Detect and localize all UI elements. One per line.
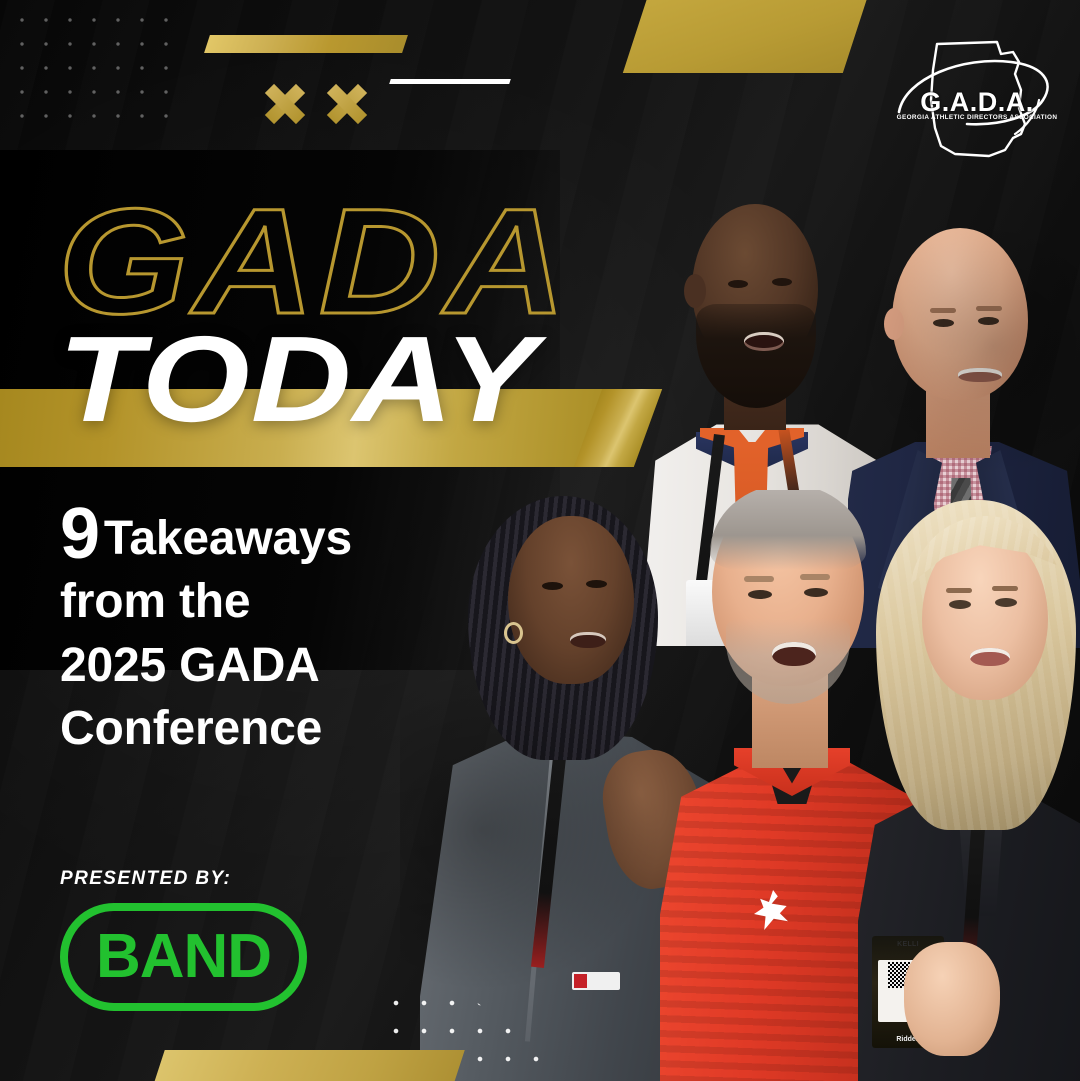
subhead-line-2: from the <box>60 575 250 628</box>
gada-logo-full-name: GEORGIA ATHLETIC DIRECTORS ASSOCIATION <box>893 114 1061 121</box>
gada-association-logo: G.A.D.A. GEORGIA ATHLETIC DIRECTORS ASSO… <box>893 38 1061 164</box>
subhead-line-1: Takeaways <box>104 512 352 565</box>
headline-today: TODAY <box>58 318 538 440</box>
photo-blonde-woman: KELLI Riddell <box>858 490 1080 1081</box>
band-sponsor-logo[interactable]: BAND <box>60 903 307 1011</box>
takeaway-count: 9 <box>60 494 100 574</box>
gold-parallelogram-bottom <box>145 1050 464 1081</box>
subhead-line-4: Conference <box>60 702 322 755</box>
subhead-line-3: 2025 GADA <box>60 639 320 692</box>
presented-by-label: PRESENTED BY: <box>60 868 231 890</box>
band-logo-text: BAND <box>96 926 271 988</box>
promo-poster: KELLI Riddell GADA TODAY 9Takeaways from… <box>0 0 1080 1081</box>
subheadline: 9Takeaways from the 2025 GADA Conference <box>60 498 480 760</box>
